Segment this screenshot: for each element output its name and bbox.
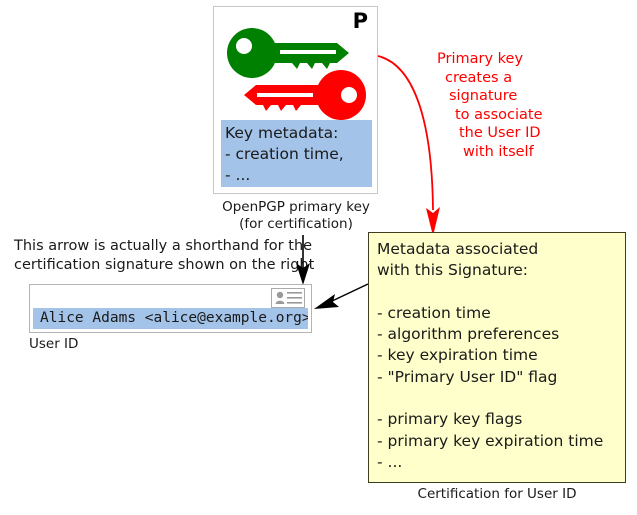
key-metadata-line: - ... — [225, 165, 372, 186]
key-metadata-line: Key metadata: — [225, 123, 372, 144]
certification-spacer — [377, 388, 625, 409]
certification-heading-line: Metadata associated — [377, 239, 625, 260]
primary-key-caption-line: OpenPGP primary key — [196, 199, 396, 216]
certification-item: - primary key flags — [377, 409, 625, 430]
certification-item: - ... — [377, 452, 625, 473]
black-diagonal-arrow-svg — [312, 282, 372, 318]
certification-heading-line: with this Signature: — [377, 260, 625, 281]
red-key-icon — [244, 70, 366, 120]
red-annotation-text: Primary key creates a signature to assoc… — [437, 50, 557, 162]
black-down-arrow-svg — [292, 233, 318, 287]
key-pair-illustration — [214, 23, 379, 127]
certification-item: - algorithm preferences — [377, 324, 625, 345]
certification-spacer — [377, 282, 625, 303]
shorthand-annotation-text: This arrow is actually a shorthand for t… — [14, 237, 304, 274]
red-annotation-line: signature — [437, 87, 557, 106]
certification-item: - creation time — [377, 303, 625, 324]
user-id-caption: User ID — [29, 336, 78, 353]
shorthand-annotation-line: This arrow is actually a shorthand for t… — [14, 237, 304, 256]
key-metadata-box: Key metadata: - creation time, - ... — [221, 120, 372, 187]
id-card-icon — [271, 288, 305, 308]
red-annotation-line: the User ID — [437, 124, 557, 143]
certification-item: - key expiration time — [377, 345, 625, 366]
red-annotation-line: creates a — [437, 69, 557, 88]
green-key-icon — [227, 28, 349, 78]
openpgp-primary-key-card: P Key metadata: - creation time, - ... — [213, 6, 378, 194]
key-pair-svg — [214, 23, 379, 127]
certification-caption: Certification for User ID — [368, 486, 626, 503]
certification-item: - "Primary User ID" flag — [377, 367, 625, 388]
user-id-card: Alice Adams <alice@example.org> — [29, 284, 312, 333]
key-metadata-line: - creation time, — [225, 144, 372, 165]
primary-key-caption: OpenPGP primary key (for certification) — [196, 199, 396, 232]
red-annotation-line: to associate — [437, 106, 557, 125]
id-card-icon-svg — [271, 288, 305, 308]
certification-item: - primary key expiration time — [377, 431, 625, 452]
red-annotation-line: Primary key — [437, 50, 557, 69]
black-diagonal-arrow — [312, 282, 372, 322]
certification-metadata-box: Metadata associated with this Signature:… — [368, 232, 626, 483]
shorthand-annotation-line: certification signature shown on the rig… — [14, 256, 304, 275]
red-annotation-line: with itself — [437, 143, 557, 162]
primary-key-caption-line: (for certification) — [196, 216, 396, 233]
user-id-value: Alice Adams <alice@example.org> — [33, 308, 308, 329]
